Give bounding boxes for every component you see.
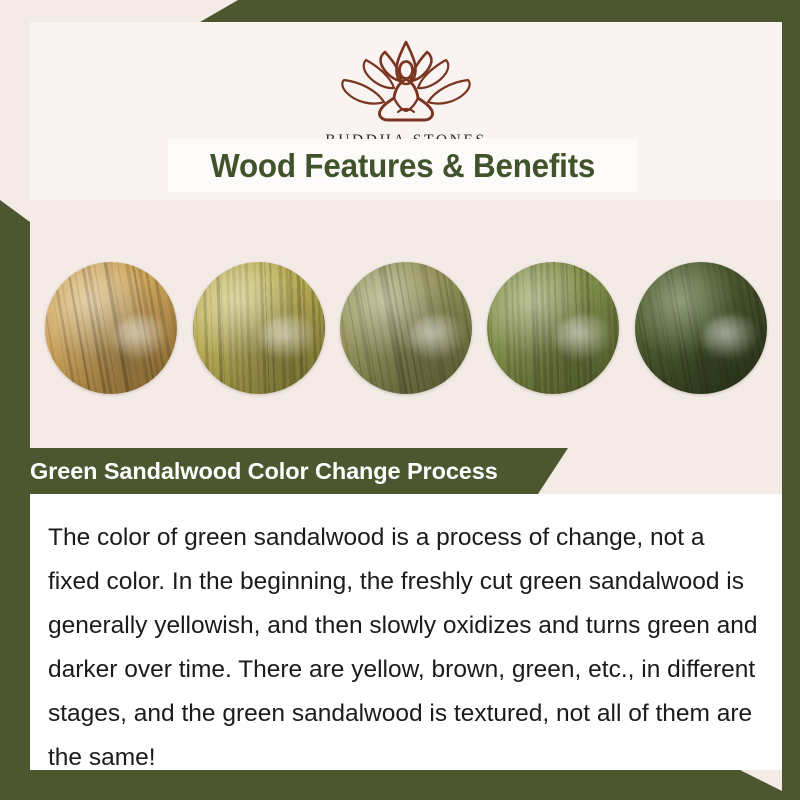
frame-band-left <box>0 200 30 800</box>
frame-band-top <box>200 0 800 22</box>
bead-stage-1 <box>45 262 177 394</box>
bead-stage-2 <box>193 262 325 394</box>
bead-row <box>30 248 782 408</box>
bead-stage-3 <box>340 262 472 394</box>
section-banner: Green Sandalwood Color Change Process <box>0 448 568 494</box>
page-title-band: Wood Features & Benefits <box>168 139 638 192</box>
bead-highlight <box>556 315 614 363</box>
bead-highlight <box>409 315 467 363</box>
poster-root: BUDDHA STONES Wood Features & Benefits <box>0 0 800 800</box>
section-banner-label: Green Sandalwood Color Change Process <box>30 458 498 485</box>
bead-highlight <box>114 315 172 363</box>
body-card: The color of green sandalwood is a proce… <box>30 494 782 770</box>
lotus-meditation-logo-icon <box>322 36 490 128</box>
body-paragraph: The color of green sandalwood is a proce… <box>48 516 762 780</box>
bead-stage-5 <box>635 262 767 394</box>
bead-stage-4 <box>487 262 619 394</box>
frame-band-right <box>782 0 800 800</box>
page-title: Wood Features & Benefits <box>210 147 595 185</box>
brand-logo: BUDDHA STONES <box>30 36 782 150</box>
